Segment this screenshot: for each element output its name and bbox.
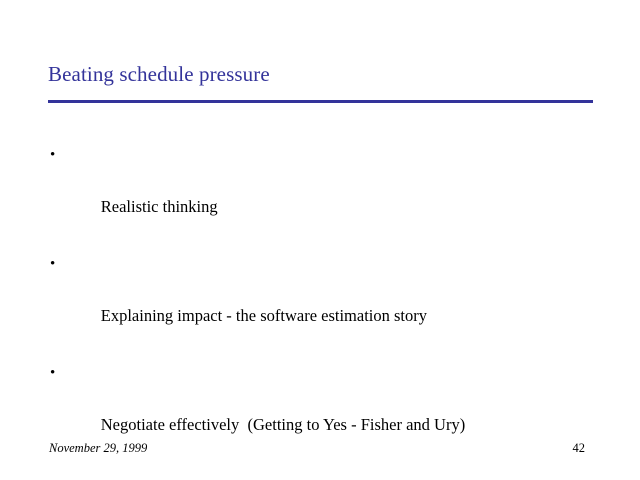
list-item: • Explaining impact - the software estim…: [48, 251, 608, 355]
list-item-label: Realistic thinking: [101, 197, 218, 216]
list-item-label: Negotiate effectively (Getting to Yes - …: [101, 415, 465, 434]
bullet-point-icon: •: [50, 251, 55, 277]
list-item-label: Explaining impact - the software estimat…: [101, 306, 427, 325]
bullet-list: • Realistic thinking • Explaining impact…: [48, 142, 608, 469]
list-item: • Realistic thinking: [48, 142, 608, 246]
slide-number: 42: [573, 440, 586, 456]
title-divider-rule: [48, 100, 593, 103]
bullet-point-icon: •: [50, 360, 55, 386]
page-title: Beating schedule pressure: [48, 61, 594, 87]
slide-date: November 29, 1999: [49, 440, 147, 456]
bullet-point-icon: •: [50, 142, 55, 168]
presentation-slide: Beating schedule pressure • Realistic th…: [0, 0, 640, 480]
